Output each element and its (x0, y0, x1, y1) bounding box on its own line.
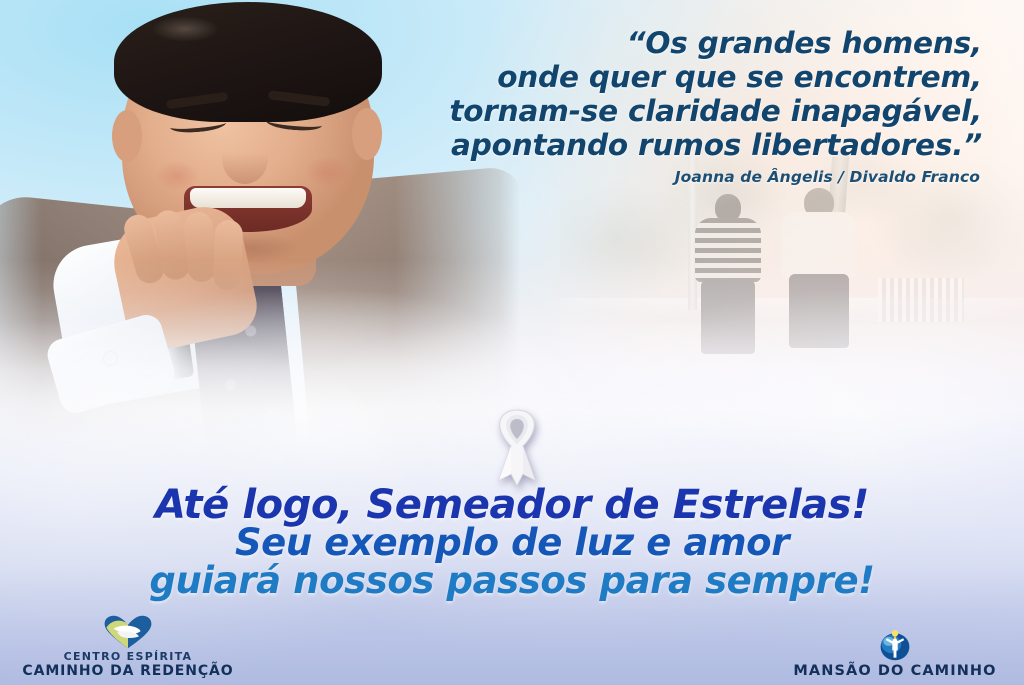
headline-text: Até logo, Semeador de Estrelas! Seu exem… (0, 486, 1024, 600)
ear-left (112, 110, 142, 162)
logo-left-line-2: CAMINHO DA REDENÇÃO (18, 663, 238, 679)
hair (114, 2, 382, 122)
quote-line-3: tornam-se claridade inapagável, (362, 94, 982, 128)
globe-figure-logo-icon (780, 627, 1010, 663)
logo-right-line-2: MANSÃO DO CAMINHO (780, 663, 1010, 679)
memorial-poster: “Os grandes homens, onde quer que se enc… (0, 0, 1024, 685)
headline-line-3: guiará nossos passos para sempre! (0, 562, 1024, 600)
teeth (190, 188, 306, 208)
quote-text: “Os grandes homens, onde quer que se enc… (362, 26, 982, 162)
headline-line-2: Seu exemplo de luz e amor (0, 524, 1024, 562)
quote-line-1: “Os grandes homens, (362, 26, 982, 60)
logo-centro-espirita: CENTRO ESPÍRITA CAMINHO DA REDENÇÃO (18, 614, 238, 679)
headline-line-1: Até logo, Semeador de Estrelas! (0, 486, 1024, 524)
heart-hands-logo-icon (18, 614, 238, 650)
nose (222, 132, 268, 184)
quote-line-2: onde quer que se encontrem, (362, 60, 982, 94)
white-memorial-ribbon-icon (481, 406, 553, 490)
cheek-right (298, 152, 356, 192)
logo-mansao-do-caminho: MANSÃO DO CAMINHO (780, 627, 1010, 679)
logo-left-line-1: CENTRO ESPÍRITA (18, 650, 238, 663)
quote-attribution: Joanna de Ângelis / Divaldo Franco (675, 168, 980, 186)
quote-line-4: apontando rumos libertadores.” (362, 128, 982, 162)
